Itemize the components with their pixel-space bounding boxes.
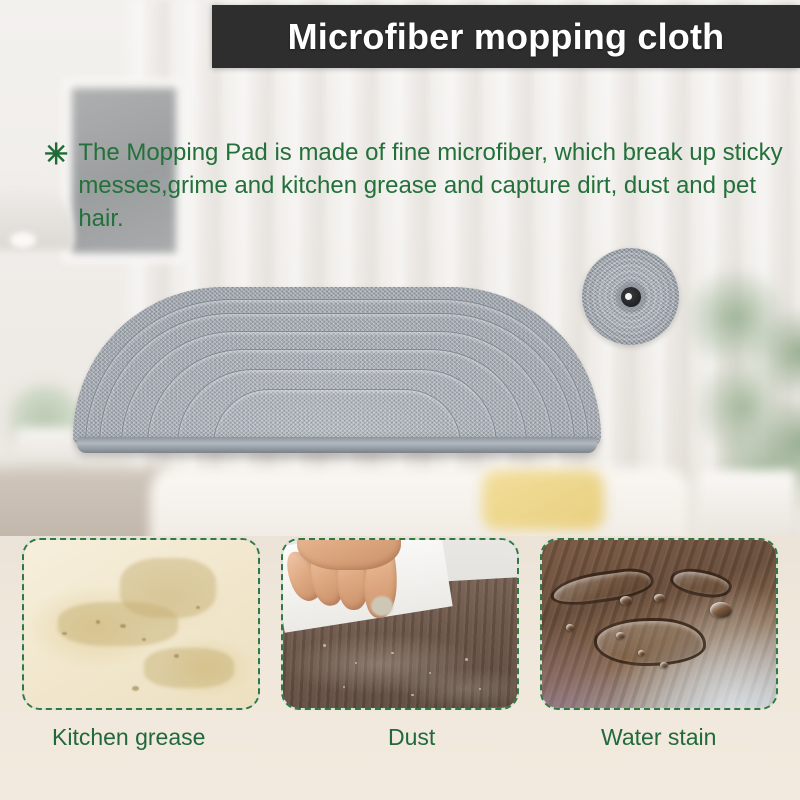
water-droplet [616,632,625,639]
kitchen-grease-photo [24,540,258,708]
center-hub [621,287,641,307]
water-droplet [654,594,665,602]
water-droplet [638,650,645,656]
water-droplet [620,596,632,605]
caption-dust: Dust [388,722,435,752]
center-hole [625,293,632,300]
pad-body [73,287,601,445]
dust-photo [283,540,517,708]
description-text: The Mopping Pad is made of fine microfib… [78,136,784,235]
lamp-bulb [10,232,36,248]
product-infographic: Microfiber mopping cloth ✳ The Mopping P… [0,0,800,800]
card-captions: Kitchen grease Dust Water stain [0,722,800,762]
caption-kitchen-grease: Kitchen grease [52,722,205,752]
card-water-stain[interactable] [540,538,778,710]
page-title: Microfiber mopping cloth [288,16,725,58]
asterisk-icon: ✳ [44,136,68,172]
use-case-cards [0,538,800,713]
caption-water-stain: Water stain [601,722,716,752]
round-mopping-pad [582,248,679,345]
water-droplet [710,602,732,618]
title-banner: Microfiber mopping cloth [212,5,800,68]
d-shaped-mopping-pad [73,287,601,463]
water-droplet [660,662,668,668]
pad-shadow [103,453,573,465]
description-block: ✳ The Mopping Pad is made of fine microf… [44,136,784,235]
card-kitchen-grease[interactable] [22,538,260,710]
dust-film [283,598,517,708]
water-droplet [566,624,574,631]
card-dust[interactable] [281,538,519,710]
water-puddle [594,618,706,666]
pad-edge-band [77,437,597,453]
water-stain-photo [542,540,776,708]
yellow-cushion [482,470,604,530]
